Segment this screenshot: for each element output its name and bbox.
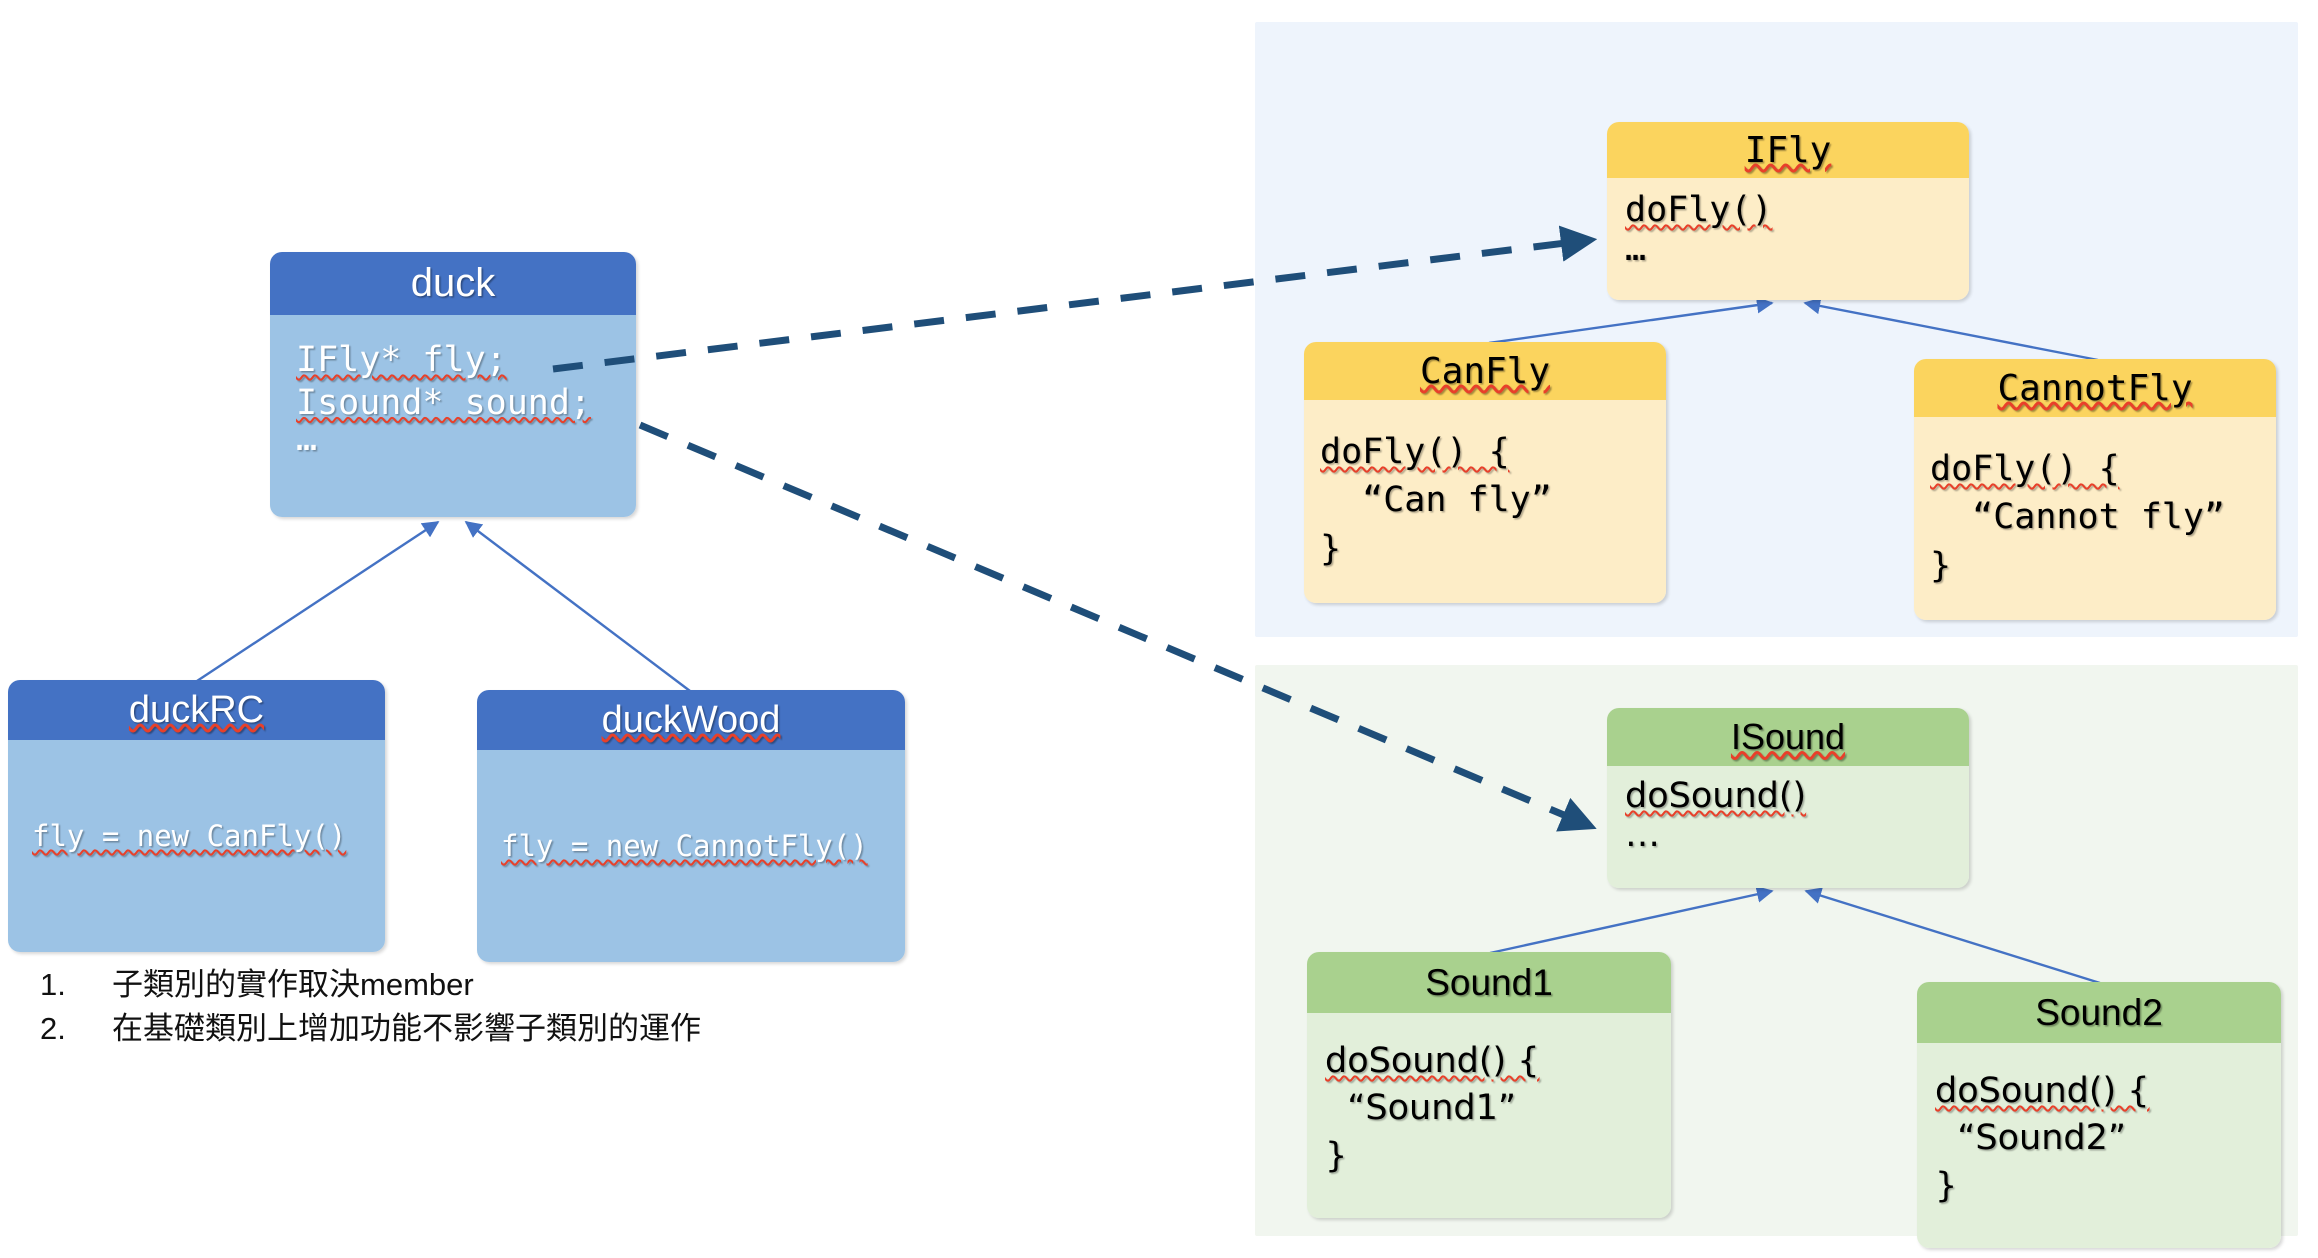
method-dosound-open: doSound() { bbox=[1325, 1041, 1540, 1081]
class-title-canfly-text: CanFly bbox=[1420, 351, 1550, 392]
class-title-duckrc-text: duckRC bbox=[129, 689, 264, 732]
class-box-sound2[interactable]: Sound2 doSound() { “Sound2”} bbox=[1917, 982, 2281, 1248]
class-members-sound1: doSound() { “Sound1”} bbox=[1307, 1013, 1671, 1218]
class-title-sound2: Sound2 bbox=[1917, 982, 2281, 1043]
class-members-duckwood: fly = new CannotFly() bbox=[477, 750, 905, 962]
class-title-sound1: Sound1 bbox=[1307, 952, 1671, 1013]
class-box-ifly[interactable]: IFly doFly()… bbox=[1607, 122, 1969, 300]
edge-duckrc-to-duck bbox=[197, 522, 438, 681]
method-dofly-open: doFly() { bbox=[1320, 432, 1510, 472]
class-title-ifly-text: IFly bbox=[1745, 130, 1832, 171]
class-members-duck: IFly* fly;Isound* sound;… bbox=[270, 315, 636, 517]
note-number: 1. bbox=[40, 963, 112, 1007]
class-box-duck[interactable]: duck IFly* fly;Isound* sound;… bbox=[270, 252, 636, 517]
class-members-cannotfly: doFly() { “Cannot fly”} bbox=[1914, 417, 2276, 620]
members-ellipsis: … bbox=[1625, 820, 1969, 852]
method-dofly-close: } bbox=[1320, 529, 1341, 569]
note-item: 1. 子類別的實作取決member bbox=[40, 963, 701, 1007]
member-ifly-fly: IFly* fly; bbox=[296, 340, 507, 380]
member-fly-assign-canfly: fly = new CanFly() bbox=[32, 819, 346, 853]
class-title-cannotfly: CannotFly bbox=[1914, 359, 2276, 417]
method-dosound: doSound() bbox=[1625, 776, 1806, 816]
class-title-isound-text: ISound bbox=[1731, 716, 1845, 758]
members-ellipsis: … bbox=[1625, 234, 1969, 266]
class-box-cannotfly[interactable]: CannotFly doFly() { “Cannot fly”} bbox=[1914, 359, 2276, 620]
class-title-cannotfly-text: CannotFly bbox=[1997, 368, 2192, 409]
note-item: 2. 在基礎類別上增加功能不影響子類別的運作 bbox=[40, 1007, 701, 1051]
class-title-duck: duck bbox=[270, 252, 636, 315]
members-ellipsis: … bbox=[296, 424, 636, 456]
diagram-canvas: duck IFly* fly;Isound* sound;… duckRC fl… bbox=[0, 0, 2318, 1258]
class-box-isound[interactable]: ISound doSound()… bbox=[1607, 708, 1969, 888]
method-dosound-open: doSound() { bbox=[1935, 1071, 2150, 1111]
class-box-canfly[interactable]: CanFly doFly() { “Can fly”} bbox=[1304, 342, 1666, 603]
method-dofly: doFly() bbox=[1625, 190, 1773, 230]
method-dofly-close: } bbox=[1930, 546, 1951, 586]
class-members-ifly: doFly()… bbox=[1607, 178, 1969, 300]
class-title-duckwood: duckWood bbox=[477, 690, 905, 750]
class-title-ifly: IFly bbox=[1607, 122, 1969, 178]
class-title-canfly: CanFly bbox=[1304, 342, 1666, 400]
method-dofly-string: “Cannot fly” bbox=[1930, 497, 2225, 537]
member-fly-assign-cannotfly: fly = new CannotFly() bbox=[501, 829, 868, 863]
method-dosound-close: } bbox=[1935, 1166, 1957, 1206]
class-members-isound: doSound()… bbox=[1607, 766, 1969, 888]
method-dosound-string: “Sound1” bbox=[1325, 1088, 1516, 1128]
class-box-duckwood[interactable]: duckWood fly = new CannotFly() bbox=[477, 690, 905, 962]
note-text: 在基礎類別上增加功能不影響子類別的運作 bbox=[112, 1007, 701, 1051]
note-text: 子類別的實作取決member bbox=[112, 963, 474, 1007]
class-box-sound1[interactable]: Sound1 doSound() { “Sound1”} bbox=[1307, 952, 1671, 1218]
class-members-sound2: doSound() { “Sound2”} bbox=[1917, 1043, 2281, 1248]
class-title-duckrc: duckRC bbox=[8, 680, 385, 740]
class-title-duckwood-text: duckWood bbox=[602, 699, 781, 742]
class-members-canfly: doFly() { “Can fly”} bbox=[1304, 400, 1666, 603]
note-number: 2. bbox=[40, 1007, 112, 1051]
method-dofly-open: doFly() { bbox=[1930, 449, 2120, 489]
class-title-isound: ISound bbox=[1607, 708, 1969, 766]
member-isound-sound: Isound* sound; bbox=[296, 383, 591, 423]
class-members-duckrc: fly = new CanFly() bbox=[8, 740, 385, 952]
method-dosound-close: } bbox=[1325, 1136, 1347, 1176]
edge-duckwood-to-duck bbox=[466, 522, 690, 691]
method-dosound-string: “Sound2” bbox=[1935, 1118, 2126, 1158]
method-dofly-string: “Can fly” bbox=[1320, 480, 1552, 520]
notes-list: 1. 子類別的實作取決member 2. 在基礎類別上增加功能不影響子類別的運作 bbox=[40, 963, 701, 1051]
class-box-duckrc[interactable]: duckRC fly = new CanFly() bbox=[8, 680, 385, 952]
